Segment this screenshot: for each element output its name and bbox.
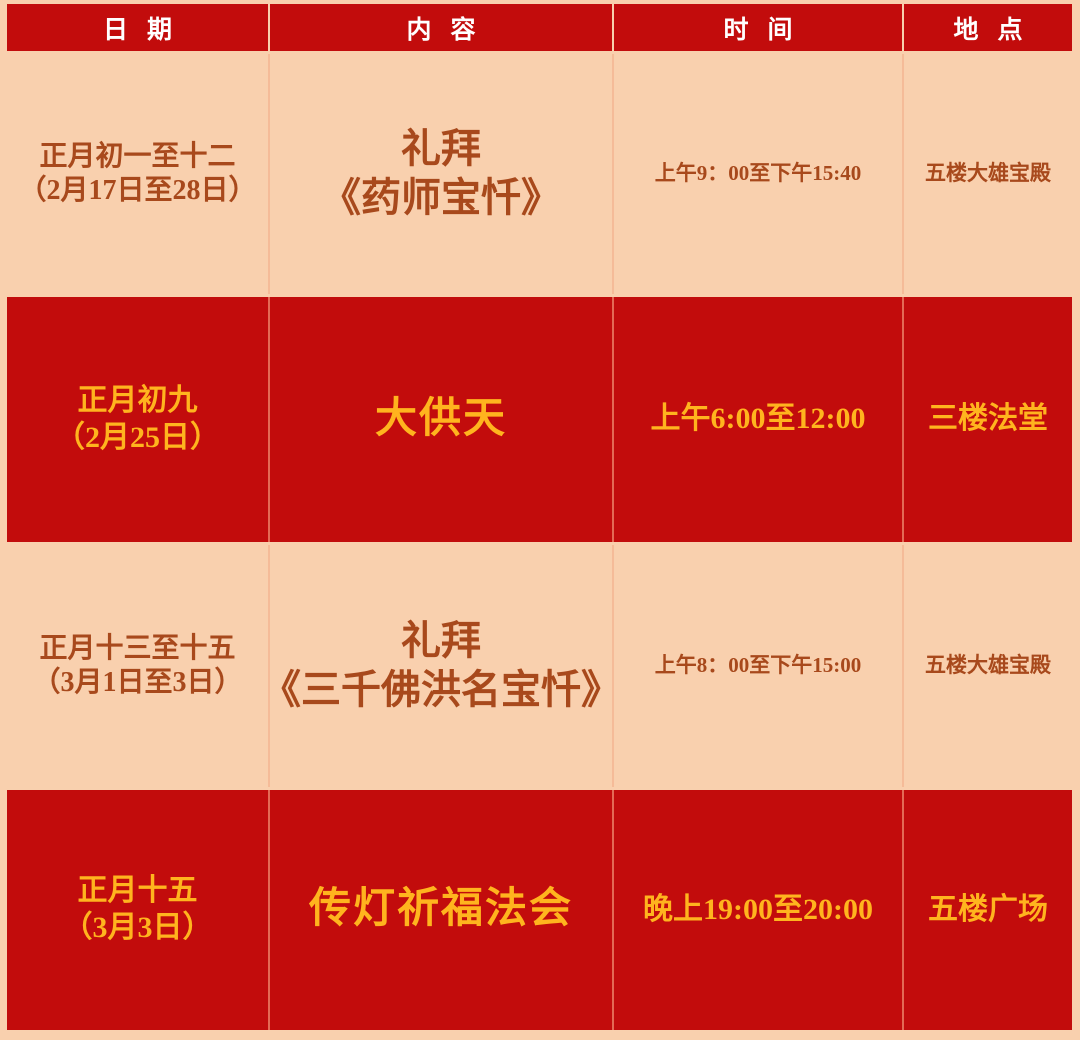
cell-time: 上午9：00至下午15:40: [612, 54, 902, 294]
place-text: 五楼广场: [928, 892, 1048, 929]
column-header-content: 内 容: [270, 4, 612, 51]
cell-place: 五楼大雄宝殿: [902, 54, 1072, 294]
schedule-table: 日 期 内 容 时 间 地 点 正月初一至十二 （2月17日至28日） 礼拜 《…: [0, 0, 1080, 1040]
date-main-text: 正月初一至十二: [39, 140, 235, 174]
cell-date: 正月十五 （3月3日）: [7, 790, 268, 1030]
cell-content: 传灯祈福法会: [268, 790, 612, 1030]
place-text: 五楼大雄宝殿: [925, 653, 1051, 679]
date-sub-text: （2月17日至28日）: [18, 174, 256, 208]
time-text: 上午6:00至12:00: [651, 401, 866, 438]
cell-content: 礼拜 《药师宝忏》: [268, 54, 612, 294]
column-header-content-label: 内 容: [401, 10, 482, 46]
cell-time: 上午6:00至12:00: [612, 297, 902, 542]
date-sub-text: （3月1日至3日）: [32, 666, 242, 700]
table-row: 正月十五 （3月3日） 传灯祈福法会 晚上19:00至20:00 五楼广场: [0, 790, 1080, 1030]
cell-time: 晚上19:00至20:00: [612, 790, 902, 1030]
place-text: 三楼法堂: [928, 401, 1048, 438]
cell-content: 礼拜 《三千佛洪名宝忏》: [268, 545, 612, 787]
cell-place: 五楼广场: [902, 790, 1072, 1030]
table-row: 正月初一至十二 （2月17日至28日） 礼拜 《药师宝忏》 上午9：00至下午1…: [0, 54, 1080, 294]
time-text: 上午8：00至下午15:00: [655, 653, 862, 679]
column-header-date-label: 日 期: [97, 10, 178, 46]
cell-place: 三楼法堂: [902, 297, 1072, 542]
column-header-time-label: 时 间: [718, 10, 799, 46]
content-line2-text: 《三千佛洪名宝忏》: [268, 666, 612, 715]
column-header-time: 时 间: [614, 4, 902, 51]
cell-date: 正月初一至十二 （2月17日至28日）: [7, 54, 268, 294]
cell-date: 正月十三至十五 （3月1日至3日）: [7, 545, 268, 787]
cell-time: 上午8：00至下午15:00: [612, 545, 902, 787]
place-text: 五楼大雄宝殿: [925, 161, 1051, 187]
cell-content: 大供天: [268, 297, 612, 542]
table-row: 正月初九 （2月25日） 大供天 上午6:00至12:00 三楼法堂: [0, 297, 1080, 542]
table-row: 正月十三至十五 （3月1日至3日） 礼拜 《三千佛洪名宝忏》 上午8：00至下午…: [0, 545, 1080, 787]
cell-place: 五楼大雄宝殿: [902, 545, 1072, 787]
date-main-text: 正月十三至十五: [39, 632, 235, 666]
content-line1-text: 传灯祈福法会: [309, 884, 573, 935]
content-line1-text: 礼拜: [401, 617, 481, 666]
date-main-text: 正月初九: [78, 383, 198, 420]
column-header-place: 地 点: [904, 4, 1072, 51]
date-sub-text: （3月3日）: [63, 910, 213, 947]
cell-date: 正月初九 （2月25日）: [7, 297, 268, 542]
table-header-row: 日 期 内 容 时 间 地 点: [0, 4, 1080, 51]
column-header-date: 日 期: [7, 4, 268, 51]
column-header-place-label: 地 点: [948, 10, 1029, 46]
date-sub-text: （2月25日）: [55, 420, 220, 457]
time-text: 晚上19:00至20:00: [643, 892, 873, 929]
content-line1-text: 礼拜: [401, 125, 481, 174]
content-line1-text: 大供天: [375, 394, 507, 445]
time-text: 上午9：00至下午15:40: [655, 161, 862, 187]
content-line2-text: 《药师宝忏》: [321, 174, 561, 223]
date-main-text: 正月十五: [78, 873, 198, 910]
